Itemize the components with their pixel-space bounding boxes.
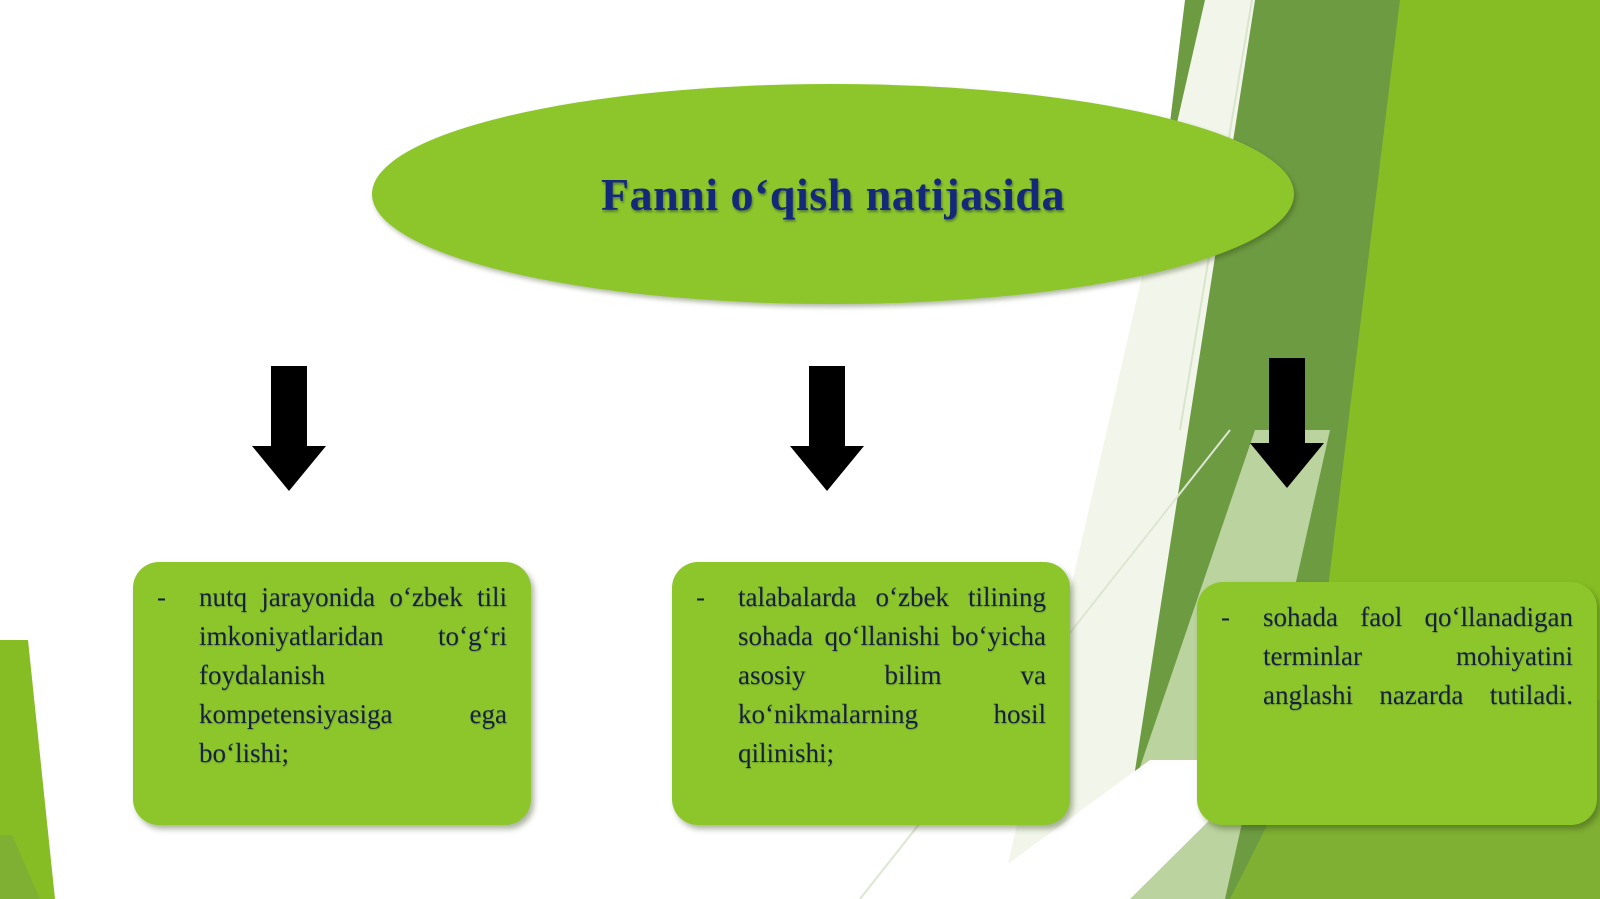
- slide-canvas: Fanni o‘qish natijasida - nutq jarayonid…: [0, 0, 1600, 899]
- down-arrow-icon-1: [252, 366, 326, 491]
- outcome-card-3: - sohada faol qo‘llanadigan terminlar mo…: [1197, 582, 1597, 825]
- arrow-head: [1250, 443, 1324, 488]
- outcome-text-3: sohada faol qo‘llanadigan terminlar mohi…: [1263, 582, 1597, 754]
- bullet-dash: -: [672, 562, 738, 617]
- page-title: Fanni o‘qish natijasida: [601, 168, 1065, 221]
- arrow-head: [252, 446, 326, 491]
- title-ellipse: Fanni o‘qish natijasida: [372, 84, 1294, 304]
- down-arrow-icon-3: [1250, 358, 1324, 490]
- arrow-shaft: [271, 366, 307, 451]
- arrow-shaft: [1269, 358, 1305, 448]
- deco-band-left-sliver: [0, 640, 55, 899]
- deco-band-left-sliver-2: [0, 835, 40, 899]
- arrow-shaft: [809, 366, 845, 451]
- outcome-text-1: nutq jarayonida o‘zbek tili imkoniyatlar…: [199, 562, 531, 812]
- outcome-card-2: - talabalarda o‘zbek tilining sohada qo‘…: [672, 562, 1070, 825]
- bullet-dash: -: [1197, 582, 1263, 637]
- outcome-card-1: - nutq jarayonida o‘zbek tili imkoniyatl…: [133, 562, 531, 825]
- arrow-head: [790, 446, 864, 491]
- bullet-dash: -: [133, 562, 199, 617]
- outcome-text-2: talabalarda o‘zbek tilining sohada qo‘ll…: [738, 562, 1070, 812]
- down-arrow-icon-2: [790, 366, 864, 491]
